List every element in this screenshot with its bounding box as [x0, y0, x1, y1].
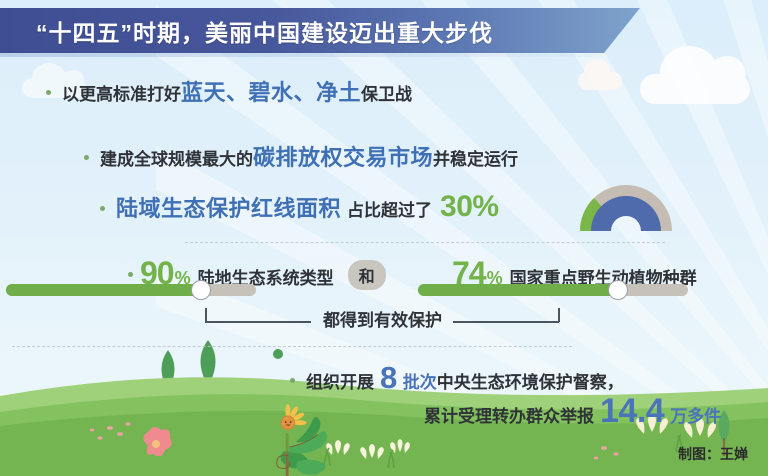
bullet-4-line2-unit: 万多件 [670, 402, 721, 427]
bullet-3-value: 30 [440, 190, 472, 224]
title-underline [0, 53, 604, 57]
sunflower-head-icon [281, 404, 307, 430]
bullet-item-4-line1: 组织开展 8 批次 中央生态环境保护督察， [290, 360, 624, 396]
bullet-4-suffix: 中央生态环境保护督察， [437, 368, 624, 393]
bullet-dot-icon [84, 155, 89, 160]
bullet-4-value: 8 [380, 360, 397, 396]
bracket-right-line [453, 321, 559, 323]
separator-dashed-top [185, 242, 665, 243]
bullet-1-suffix: 保卫战 [361, 80, 412, 105]
bullet-item-2: 建成全球规模最大的 碳排放权交易市场 并稳定运行 [84, 140, 518, 172]
bullet-1-prefix: 以更高标准打好 [62, 80, 181, 105]
slider-left[interactable] [6, 284, 256, 296]
bullet-3-middle: 占比超过了 [347, 196, 432, 221]
bullet-item-4-line2: 累计受理转办群众举报 14.4 万多件 [424, 392, 721, 431]
cloud-icon [578, 72, 622, 90]
bullet-4-line2-prefix: 累计受理转办群众举报 [424, 402, 594, 427]
credit-line: 制图：王婵 [678, 444, 748, 464]
slider-right[interactable] [418, 284, 688, 296]
bullet-4-line2-value: 14.4 [600, 392, 664, 431]
bullet-dot-icon [128, 272, 133, 277]
ecological-redline-gauge [575, 178, 677, 234]
slider-right-fill [418, 284, 618, 296]
bullet-2-suffix: 并稳定运行 [433, 145, 518, 170]
bracket-left-line [205, 321, 311, 323]
bullet-3-emphasis: 陆域生态保护红线面积 [116, 191, 341, 223]
slider-left-knob[interactable] [191, 280, 211, 300]
cloud-icon [640, 74, 750, 104]
bullet-dot-icon [46, 90, 51, 95]
page-title: “十四五”时期，美丽中国建设迈出重大步伐 [36, 14, 493, 48]
bullet-3-unit: % [472, 190, 498, 224]
bullet-item-1: 以更高标准打好 蓝天、碧水、净土 保卫战 [46, 75, 412, 107]
bullet-1-emphasis: 蓝天、碧水、净土 [181, 75, 361, 107]
bullet-item-3: 陆域生态保护红线面积 占比超过了 30% [100, 190, 499, 224]
bullet-dot-icon [100, 206, 105, 211]
bracket-right-tick [558, 308, 560, 322]
header-title-bar: “十四五”时期，美丽中国建设迈出重大步伐 [0, 8, 640, 53]
separator-dashed-bottom [12, 346, 572, 347]
bracket-connector: 都得到有效保护 [205, 308, 560, 330]
bracket-label: 都得到有效保护 [323, 306, 442, 331]
bullet-4-prefix: 组织开展 [306, 368, 374, 393]
bullet-4-unit: 批次 [403, 368, 437, 393]
conjunction-pill: 和 [348, 260, 386, 290]
bullet-2-prefix: 建成全球规模最大的 [100, 145, 253, 170]
infographic-poster: “十四五”时期，美丽中国建设迈出重大步伐 以更高标准打好 蓝天、碧水、净土 保卫… [0, 0, 768, 476]
bullet-2-emphasis: 碳排放权交易市场 [253, 140, 433, 172]
bullet-dot-icon [290, 378, 295, 383]
slider-right-knob[interactable] [608, 280, 628, 300]
slider-left-fill [6, 284, 201, 296]
bracket-left-tick [205, 308, 207, 322]
